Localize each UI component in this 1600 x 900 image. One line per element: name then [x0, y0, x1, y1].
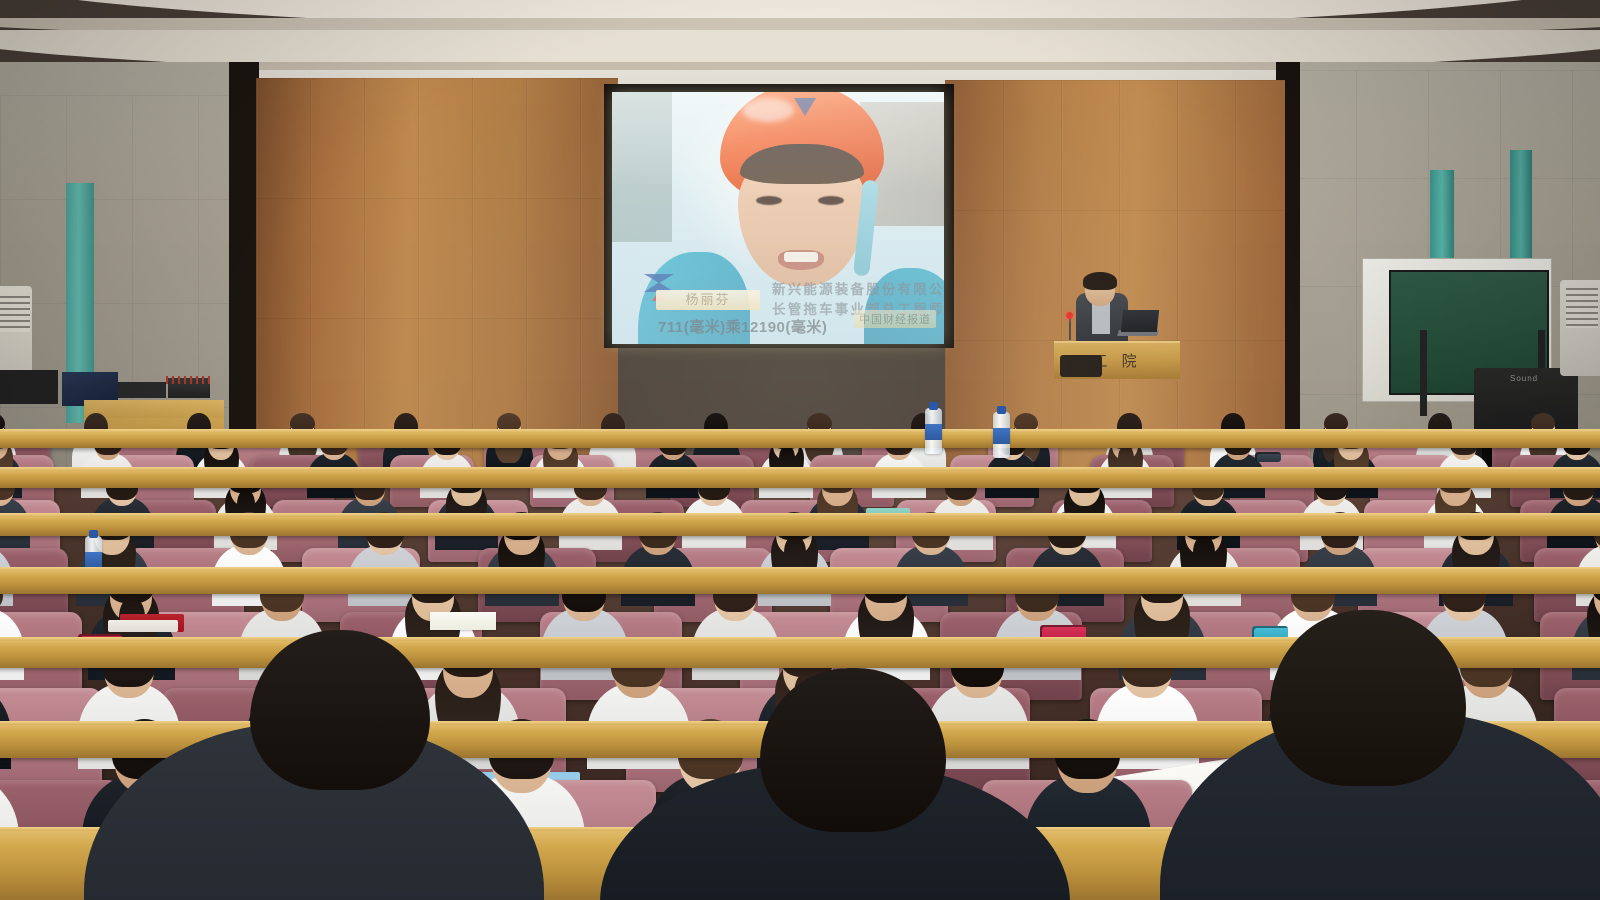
bottle-label	[993, 428, 1010, 444]
audience-desk-edge	[0, 567, 1600, 571]
auditorium-photo: 杨丽芬 新兴能源装备股份有限公司 长管拖车事业部总工程师 711(毫米)乘121…	[0, 0, 1600, 900]
wall-recess-left	[229, 62, 259, 492]
broadcast-video-frame: 杨丽芬 新兴能源装备股份有限公司 长管拖车事业部总工程师 711(毫米)乘121…	[612, 92, 944, 344]
foreground-audience-member-head	[1270, 610, 1466, 786]
foreground-audience-member-head	[760, 668, 946, 832]
av-cables	[166, 376, 212, 384]
screen-glare-overlay	[612, 92, 944, 344]
audience-desk	[0, 432, 1600, 448]
podium-obstruction	[1060, 355, 1102, 377]
microphone-indicator-light	[1066, 312, 1073, 319]
mobile-phone	[1255, 452, 1281, 462]
av-equipment-box	[0, 370, 58, 404]
audience-desk	[0, 516, 1600, 536]
ac-vents-left	[0, 296, 30, 332]
audience-desk-edge	[0, 467, 1600, 471]
water-bottle	[925, 408, 942, 454]
microphone-stem	[1069, 318, 1071, 340]
chalkboard-leg-left	[1420, 330, 1427, 416]
projection-screen: 杨丽芬 新兴能源装备股份有限公司 长管拖车事业部总工程师 711(毫米)乘121…	[612, 92, 944, 344]
presenter-hair	[1083, 272, 1117, 290]
ac-vents-right	[1566, 288, 1598, 328]
audience-desk	[0, 570, 1600, 594]
teal-accent-strip-right-2	[1510, 150, 1532, 260]
audience-desk-edge	[0, 513, 1600, 517]
audience-desk-edge	[0, 429, 1600, 433]
speaker-cabinet-brand: Sound	[1510, 374, 1538, 383]
bottle-label	[85, 552, 102, 568]
paper-sheet	[430, 612, 496, 630]
notebook	[108, 620, 178, 632]
laptop-screen	[1121, 310, 1159, 332]
foreground-audience-member-head	[250, 630, 430, 790]
av-rack-unit-1	[118, 382, 166, 398]
bottle-label	[925, 424, 942, 440]
water-bottle	[993, 412, 1010, 458]
audience-desk	[0, 470, 1600, 488]
